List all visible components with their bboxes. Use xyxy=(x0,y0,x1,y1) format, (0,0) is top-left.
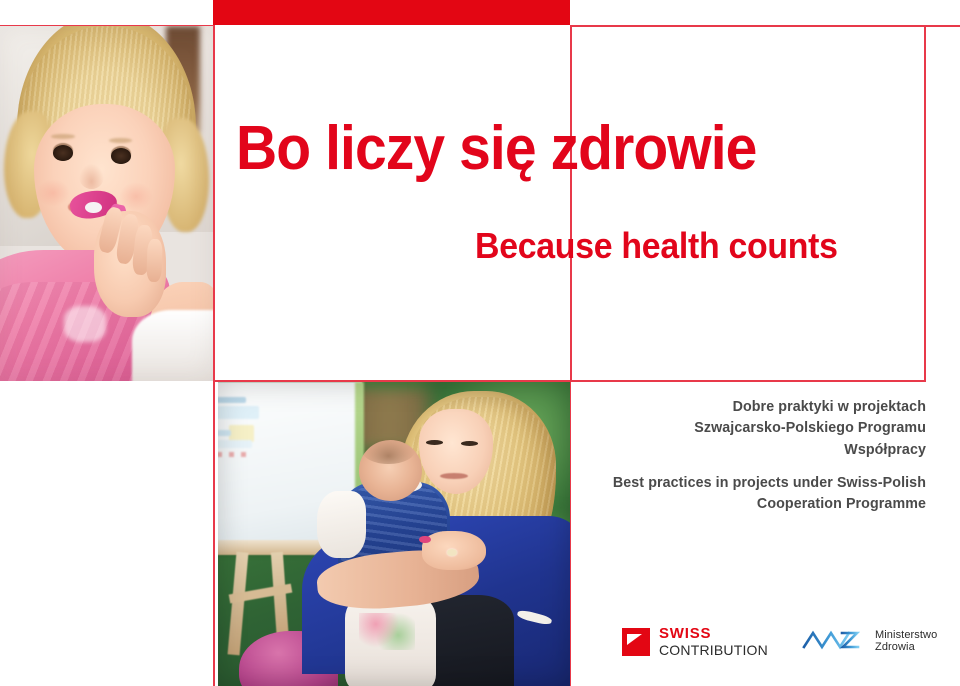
photo-vignette xyxy=(0,26,213,381)
photo-mother-holding-baby xyxy=(218,382,570,686)
logo-row: SWISS CONTRIBUTION Ministerstwo Zdrowia xyxy=(596,620,936,672)
contribution-word: CONTRIBUTION xyxy=(659,643,768,657)
top-red-bar xyxy=(213,0,570,25)
swiss-contribution-mark xyxy=(622,628,650,656)
ministry-wordmark: Ministerstwo Zdrowia xyxy=(875,629,937,654)
swiss-contribution-wordmark: SWISS CONTRIBUTION xyxy=(659,626,768,657)
rule-vertical-left-lower xyxy=(213,381,215,686)
cover-page: Bo liczy się zdrowie Because health coun… xyxy=(0,0,960,686)
caption-line-en-2: Cooperation Programme xyxy=(613,493,927,514)
ministry-word-bottom: Zdrowia xyxy=(875,641,937,653)
caption-spacer xyxy=(613,460,927,472)
ministry-of-health-logo: Ministerstwo Zdrowia xyxy=(802,628,937,654)
caption-line-en-1: Best practices in projects under Swiss-P… xyxy=(613,472,927,493)
page-title-pl: Bo liczy się zdrowie xyxy=(236,118,843,180)
photo-toddler-brushing-teeth xyxy=(0,26,213,381)
swiss-contribution-logo: SWISS CONTRIBUTION xyxy=(622,626,768,657)
caption-line-pl-2: Szwajcarsko-Polskiego Programu Współprac… xyxy=(613,417,927,460)
headline-area: Bo liczy się zdrowie Because health coun… xyxy=(218,26,925,381)
ministry-mz-zigzag-icon xyxy=(802,628,868,654)
page-title-en: Because health counts xyxy=(276,228,896,264)
ministry-word-top: Ministerstwo xyxy=(875,629,937,641)
photo-vignette xyxy=(218,382,570,686)
swiss-flag-notch-icon xyxy=(627,634,642,645)
rule-vertical-left xyxy=(213,25,215,381)
swiss-word: SWISS xyxy=(659,626,768,641)
caption-line-pl-1: Dobre praktyki w projektach xyxy=(613,396,927,417)
caption-block: Dobre praktyki w projektach Szwajcarsko-… xyxy=(613,396,927,514)
